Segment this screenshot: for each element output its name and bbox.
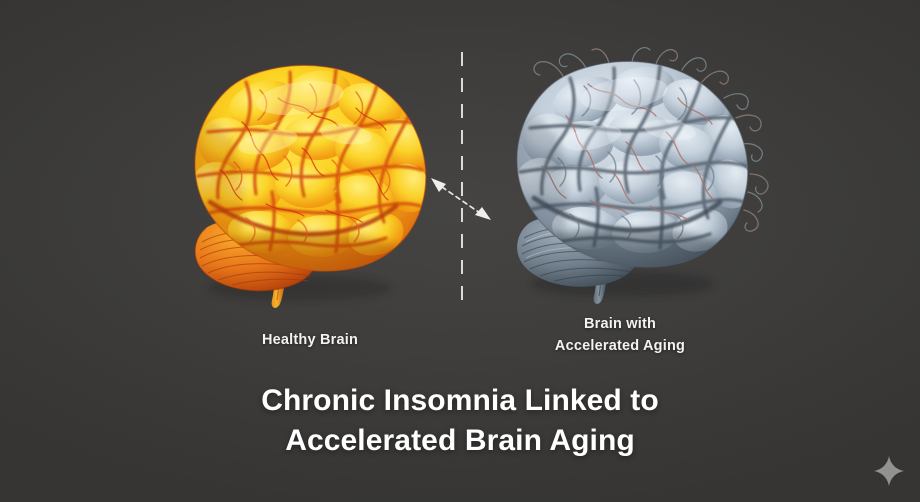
page-title-line1: Chronic Insomnia Linked to <box>0 381 920 421</box>
page-title-line2: Accelerated Brain Aging <box>0 421 920 461</box>
aged-brain-illustration <box>470 44 770 316</box>
infographic-canvas: Healthy Brain Brain with Accelerated Agi… <box>0 0 920 502</box>
double-headed-arrow-icon <box>425 170 497 228</box>
page-title: Chronic Insomnia Linked to Accelerated B… <box>0 381 920 461</box>
aged-brain-svg <box>470 44 770 316</box>
healthy-brain-caption-text: Healthy Brain <box>262 332 358 348</box>
healthy-brain-caption: Healthy Brain <box>210 329 410 351</box>
aged-brain-caption: Brain with Accelerated Aging <box>520 313 720 357</box>
sparkle-icon <box>872 454 906 488</box>
healthy-brain-illustration <box>150 52 450 314</box>
healthy-brain-svg <box>150 52 450 314</box>
aged-brain-caption-line2: Accelerated Aging <box>555 338 685 354</box>
aged-brain-caption-line1: Brain with <box>584 316 656 332</box>
